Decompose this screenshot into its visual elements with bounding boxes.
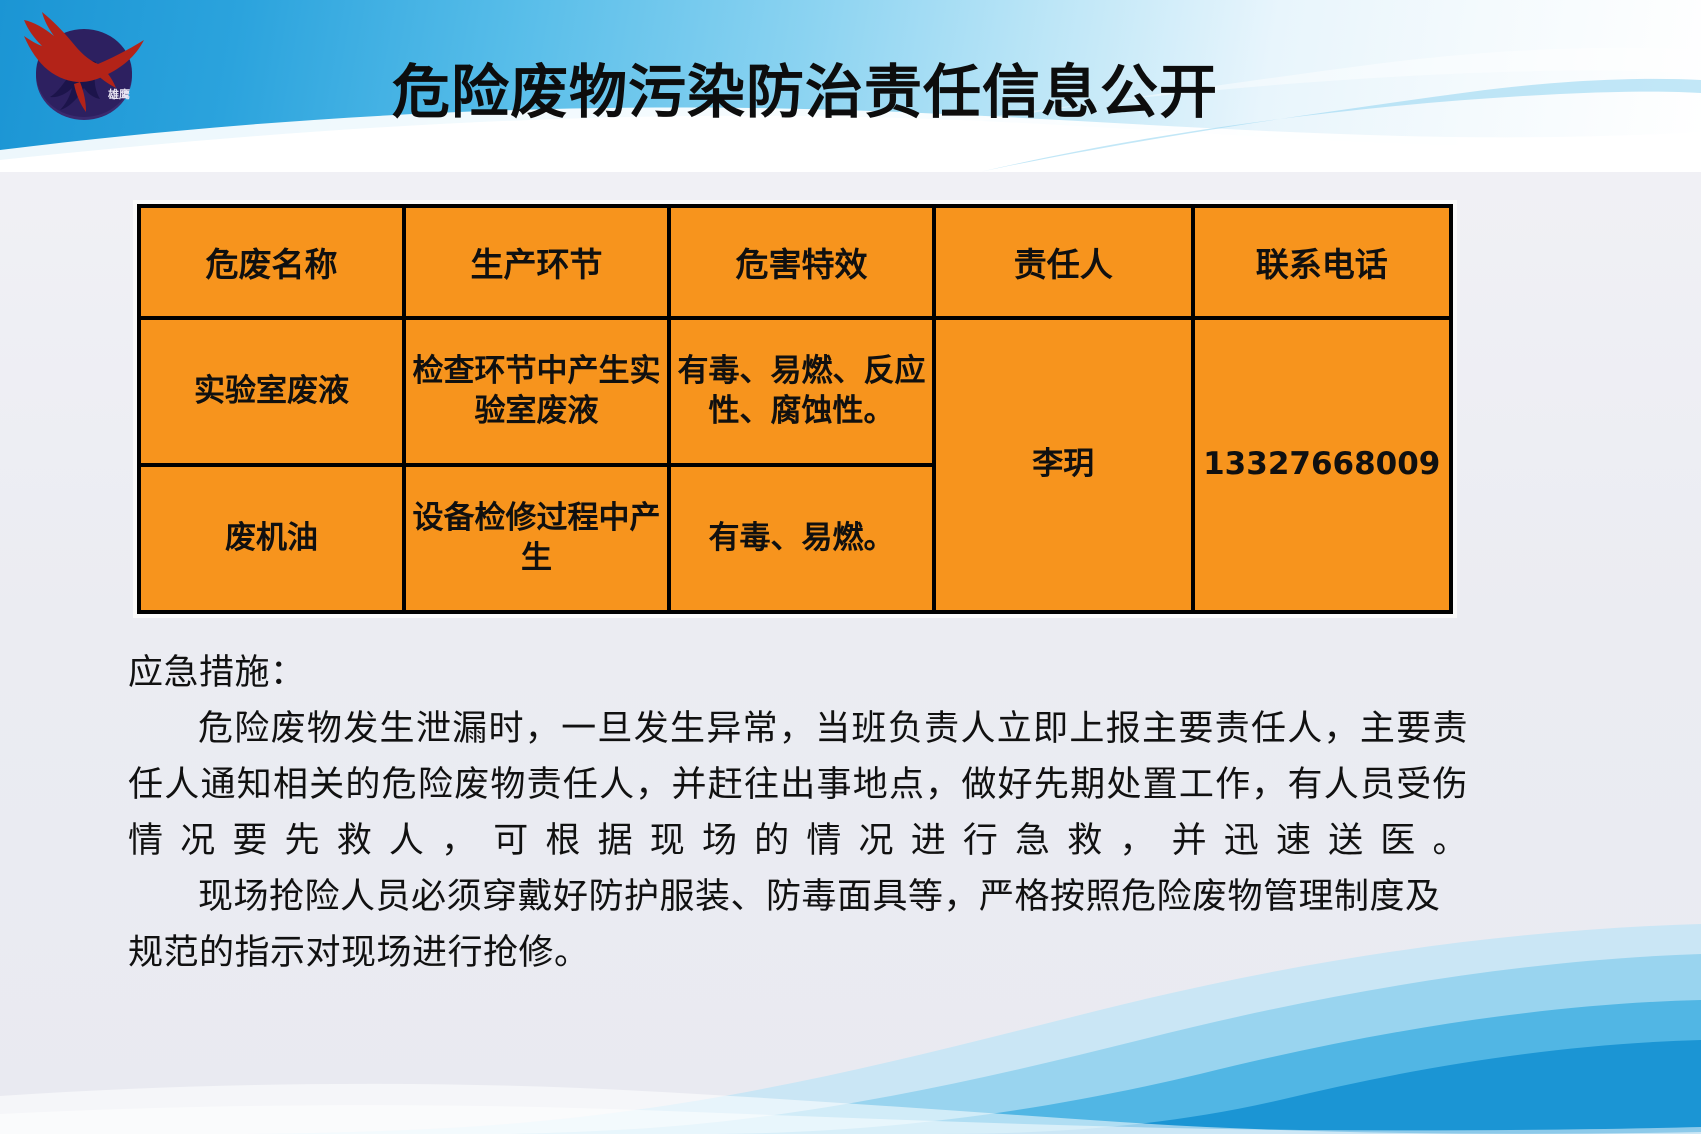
table-header-row: 危废名称 生产环节 危害特效 责任人 联系电话	[139, 206, 1451, 318]
column-header-phone: 联系电话	[1193, 206, 1452, 318]
cell-waste-name: 废机油	[139, 465, 404, 612]
page-title: 危险废物污染防治责任信息公开	[392, 52, 1392, 132]
cell-waste-name: 实验室废液	[139, 318, 404, 465]
column-header-person: 责任人	[934, 206, 1192, 318]
cell-hazard: 有毒、易燃、反应性、腐蚀性。	[669, 318, 934, 465]
cell-phone: 13327668009	[1193, 318, 1452, 612]
emergency-paragraph-2: 现场抢险人员必须穿戴好防护服装、防毒面具等，严格按照危险废物管理制度及规范的指示…	[128, 869, 1468, 981]
cell-person: 李玥	[934, 318, 1192, 612]
hazardous-waste-table: 危废名称 生产环节 危害特效 责任人 联系电话 实验室废液 检查环节中产生实验室…	[137, 204, 1453, 614]
emergency-paragraph-1: 危险废物发生泄漏时，一旦发生异常，当班负责人立即上报主要责任人，主要责任人通知相…	[128, 701, 1468, 869]
cell-process: 检查环节中产生实验室废液	[404, 318, 669, 465]
emergency-measures-section: 应急措施： 危险废物发生泄漏时，一旦发生异常，当班负责人立即上报主要责任人，主要…	[128, 645, 1468, 981]
slide-page: 雄鹰 危险废物污染防治责任信息公开 危废名称 生产环节 危害特效 责任人 联系电…	[0, 0, 1701, 1134]
eagle-logo: 雄鹰	[0, 0, 170, 128]
emergency-measures-heading: 应急措施：	[128, 645, 1468, 701]
column-header-process: 生产环节	[404, 206, 669, 318]
cell-process: 设备检修过程中产生	[404, 465, 669, 612]
column-header-waste-name: 危废名称	[139, 206, 404, 318]
hazardous-waste-table-container: 危废名称 生产环节 危害特效 责任人 联系电话 实验室废液 检查环节中产生实验室…	[133, 200, 1457, 618]
table-row: 实验室废液 检查环节中产生实验室废液 有毒、易燃、反应性、腐蚀性。 李玥 133…	[139, 318, 1451, 465]
cell-hazard: 有毒、易燃。	[669, 465, 934, 612]
column-header-hazard: 危害特效	[669, 206, 934, 318]
svg-text:雄鹰: 雄鹰	[107, 87, 130, 101]
header-banner: 雄鹰 危险废物污染防治责任信息公开	[0, 0, 1701, 172]
